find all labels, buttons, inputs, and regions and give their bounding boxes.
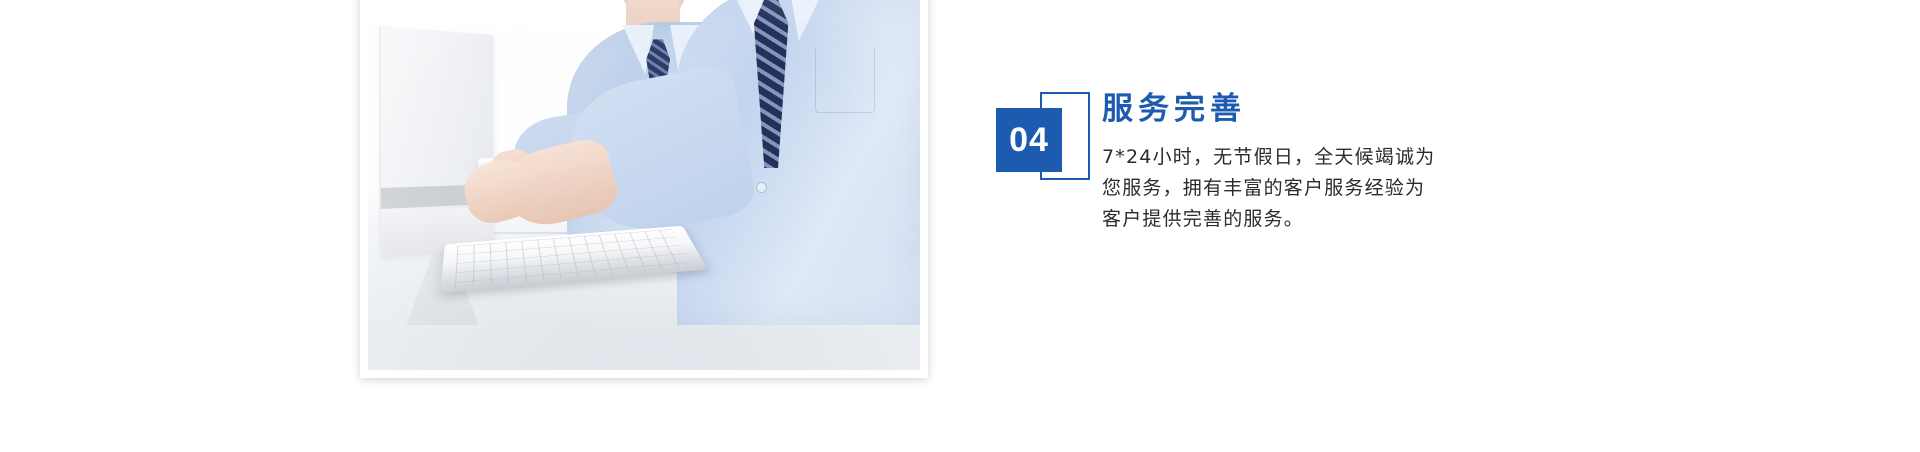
- badge-number: 04: [1009, 123, 1049, 157]
- feature-text-column: 服务完善 7*24小时，无节假日，全天候竭诚为 您服务，拥有丰富的客户服务经验为…: [1102, 92, 1756, 235]
- badge-square: 04: [996, 108, 1062, 172]
- agent-front-cuff-button: [757, 183, 766, 192]
- feature-description: 7*24小时，无节假日，全天候竭诚为 您服务，拥有丰富的客户服务经验为 客户提供…: [1102, 142, 1756, 235]
- description-line-2: 您服务，拥有丰富的客户服务经验为: [1102, 173, 1756, 204]
- monitor-icon: [379, 26, 493, 258]
- photo-frame: [360, 0, 928, 378]
- agent-front-pocket: [815, 48, 875, 113]
- agent-front: [677, 0, 920, 325]
- feature-content: 04 服务完善 7*24小时，无节假日，全天候竭诚为 您服务，拥有丰富的客户服务…: [996, 92, 1756, 235]
- call-center-photo: [368, 0, 920, 370]
- feature-banner: 04 服务完善 7*24小时，无节假日，全天候竭诚为 您服务，拥有丰富的客户服务…: [0, 0, 1920, 452]
- description-line-3: 客户提供完善的服务。: [1102, 204, 1756, 235]
- feature-title: 服务完善: [1102, 92, 1756, 128]
- description-line-1: 7*24小时，无节假日，全天候竭诚为: [1102, 142, 1756, 173]
- feature-number-badge: 04: [996, 92, 1092, 184]
